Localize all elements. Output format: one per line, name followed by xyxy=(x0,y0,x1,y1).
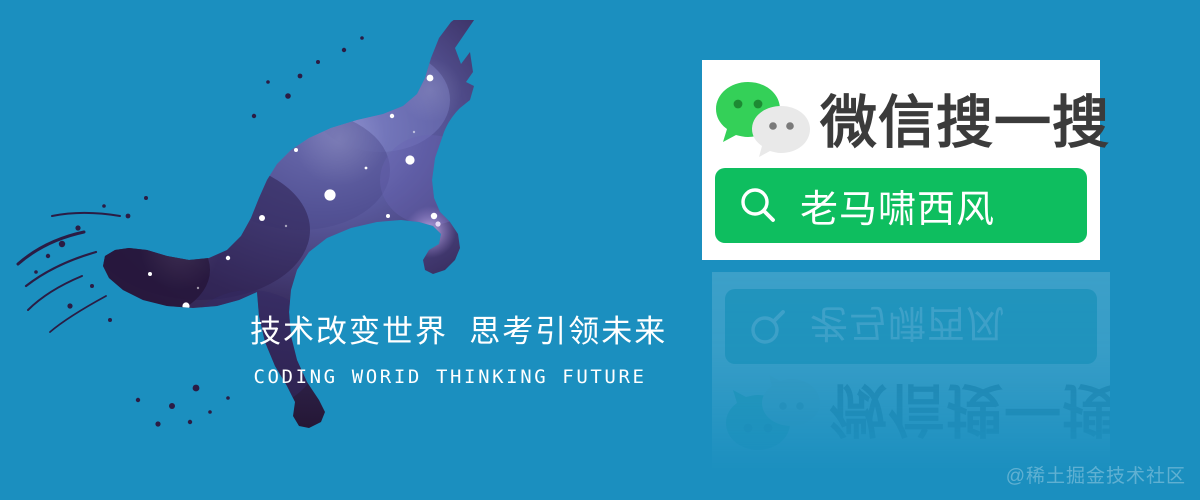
reflection-card-surface xyxy=(712,272,1110,472)
reflection-search-query-text: 老马啸西风 xyxy=(810,299,1005,354)
tagline-english: CODING WORID THINKING FUTURE xyxy=(250,362,650,392)
search-icon xyxy=(738,186,778,226)
reflection-search-icon xyxy=(748,307,788,347)
banner-canvas: 技术改变世界 思考引领未来 CODING WORID THINKING FUTU… xyxy=(0,0,1200,500)
watermark: @稀土掘金技术社区 xyxy=(1006,461,1186,488)
reflection-card-title: 微信搜一搜 xyxy=(830,372,1106,456)
wechat-logo-icon xyxy=(712,76,816,160)
reflection-search-bar: 老马啸西风 xyxy=(725,289,1097,364)
tagline-block: 技术改变世界 思考引领未来 CODING WORID THINKING FUTU… xyxy=(250,312,650,392)
wechat-search-bar[interactable]: 老马啸西风 xyxy=(715,168,1087,243)
wechat-card-title: 微信搜一搜 xyxy=(820,76,1096,160)
wechat-search-card: 微信搜一搜 老马啸西风 xyxy=(702,60,1100,260)
search-query-text: 老马啸西风 xyxy=(800,178,995,233)
tagline-chinese: 技术改变世界 思考引领未来 xyxy=(250,312,650,352)
card-reflection: 微信搜一搜 老马啸西风 xyxy=(712,272,1110,472)
reflection-wechat-logo-icon xyxy=(722,372,826,456)
